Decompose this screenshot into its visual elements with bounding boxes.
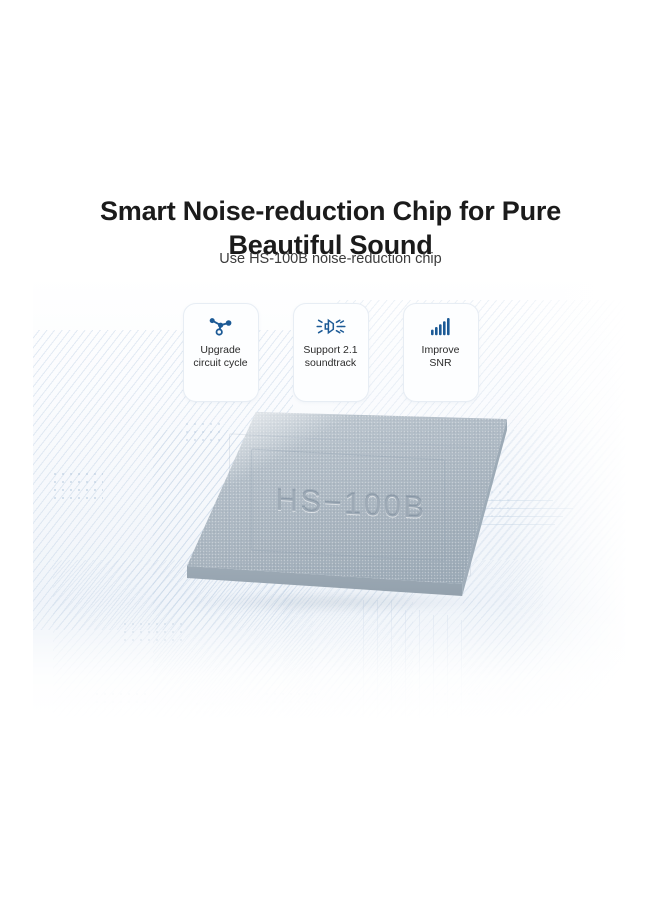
feature-label-line1: Upgrade bbox=[200, 344, 240, 356]
signal-bars-icon bbox=[430, 313, 452, 339]
product-banner-panel: Smart Noise-reduction Chip for Pure Beau… bbox=[33, 0, 628, 722]
feature-label-line2: SNR bbox=[429, 357, 451, 369]
feature-label-line2: circuit cycle bbox=[193, 357, 247, 369]
feature-badge-label: Support 2.1 soundtrack bbox=[303, 344, 357, 370]
node-graph-icon bbox=[208, 313, 233, 339]
chip-inner-etch bbox=[251, 449, 445, 562]
page-title-line1: Smart Noise-reduction Chip for Pure bbox=[100, 196, 561, 226]
feature-label-line1: Support 2.1 bbox=[303, 344, 357, 356]
speaker-sound-icon bbox=[316, 313, 346, 339]
feature-badge-upgrade-circuit-cycle[interactable]: Upgrade circuit cycle bbox=[183, 303, 259, 402]
feature-label-line2: soundtrack bbox=[305, 357, 356, 369]
feature-badge-label: Improve SNR bbox=[422, 344, 460, 370]
feature-badge-support-21-soundtrack[interactable]: Support 2.1 soundtrack bbox=[293, 303, 369, 402]
feature-badge-list: Upgrade circuit cycle bbox=[33, 303, 628, 402]
chip-product-image: HS−100B bbox=[187, 412, 507, 612]
product-image-area: HS−100B bbox=[33, 404, 628, 634]
feature-badge-label: Upgrade circuit cycle bbox=[193, 344, 247, 370]
page-subtitle: Use HS-100B noise-reduction chip bbox=[33, 251, 628, 267]
feature-label-line1: Improve bbox=[422, 344, 460, 356]
feature-badge-improve-snr[interactable]: Improve SNR bbox=[403, 303, 479, 402]
